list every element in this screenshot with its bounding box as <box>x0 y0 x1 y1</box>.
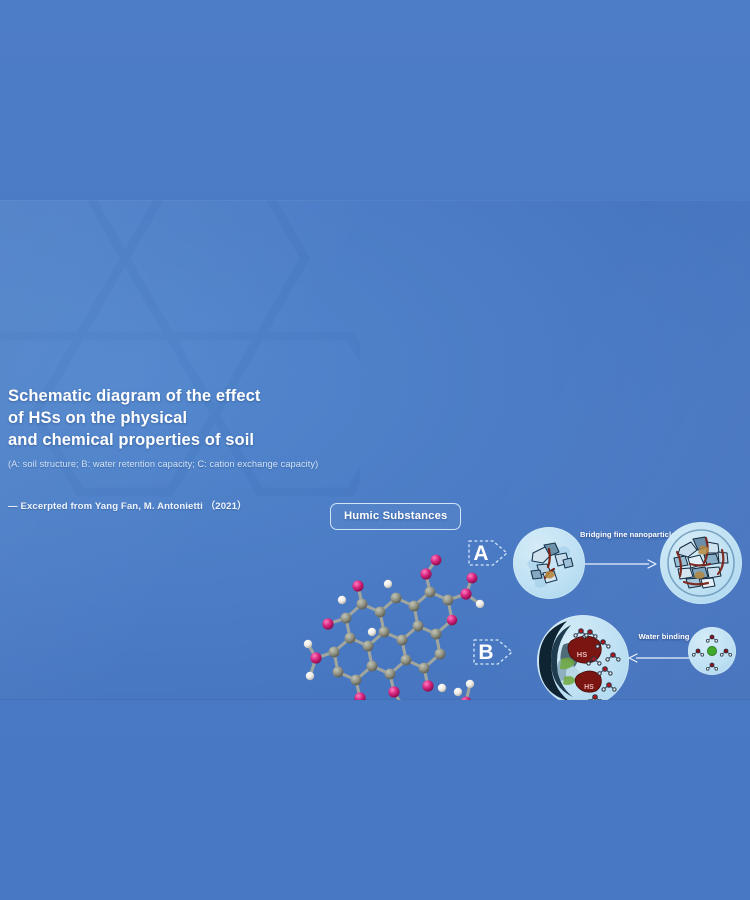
page-title-line-3: and chemical properties of soil <box>8 429 338 451</box>
connector-arrow-a <box>585 558 657 570</box>
pathway-marker-b: B <box>471 631 515 673</box>
bubble-aggregated-mineral-cluster <box>660 522 742 604</box>
bubble-loose-mineral-fragments <box>513 527 585 599</box>
page-background: Schematic diagram of the effect of HSs o… <box>0 0 750 900</box>
attribution-credit: — Excerpted from Yang Fan, M. Antonietti… <box>8 498 338 512</box>
page-title-line-2: of HSs on the physical <box>8 407 338 429</box>
process-label-bridging: Bridging fine nanoparticles <box>580 530 666 539</box>
svg-text:HS: HS <box>584 684 594 691</box>
subtitle-legend: (A: soil structure; B: water retention c… <box>8 458 338 471</box>
pathway-letter-b: B <box>478 641 493 664</box>
text-block: Schematic diagram of the effect of HSs o… <box>8 385 338 512</box>
pathway-letter-a: A <box>473 542 488 565</box>
pathway-marker-a: A <box>466 532 510 574</box>
page-title-line-1: Schematic diagram of the effect <box>8 385 338 407</box>
figure-panel: Schematic diagram of the effect of HSs o… <box>0 200 750 700</box>
svg-text:HS: HS <box>577 650 587 659</box>
figure-top-seam <box>0 200 750 201</box>
bubble-hydrated-cation <box>688 627 736 675</box>
bubble-clay-with-humic-substance-and-water: HS HS <box>537 615 629 700</box>
figure-bottom-seam <box>0 699 750 700</box>
connector-arrow-b <box>628 652 690 664</box>
process-label-water-binding: Water binding <box>632 632 696 641</box>
